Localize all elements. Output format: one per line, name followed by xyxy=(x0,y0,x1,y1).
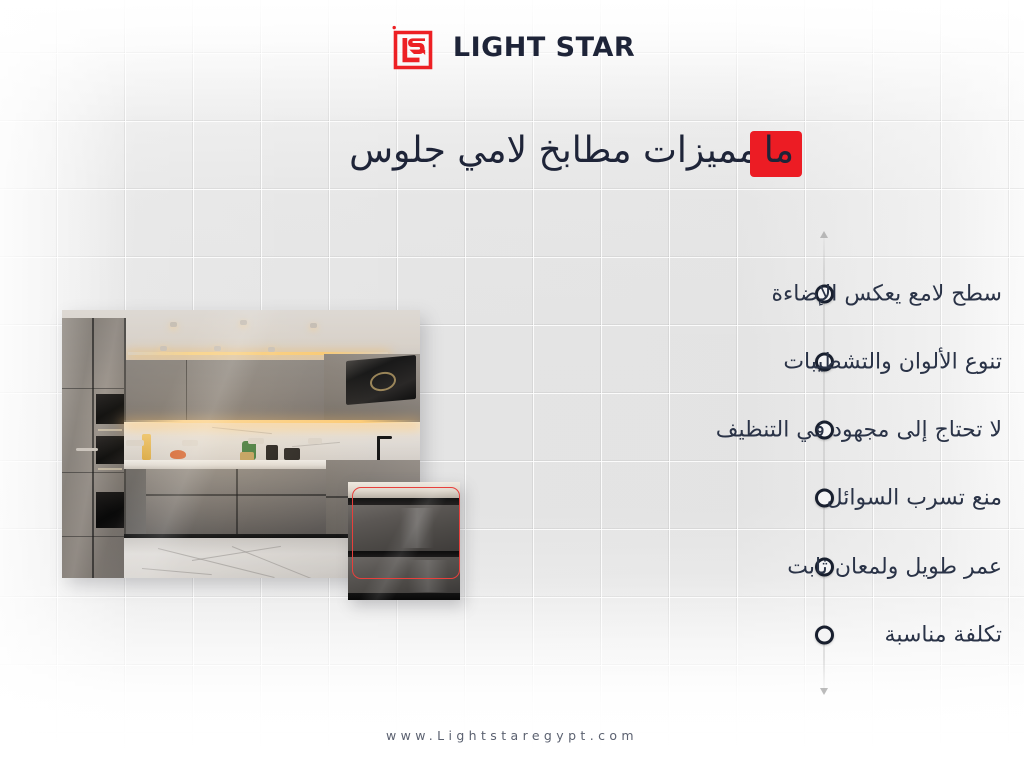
kitchen-cabinet-seam xyxy=(236,469,238,535)
ceiling-spot-icon xyxy=(160,346,167,351)
axis-arrow-down-icon xyxy=(820,688,828,695)
callout-sheen xyxy=(348,482,460,600)
list-item-label: عمر طويل ولمعان ثابت xyxy=(787,555,1002,580)
kitchen-socket-icon xyxy=(182,440,198,446)
brand-header: LIGHT STAR xyxy=(0,24,1024,71)
infographic-canvas: LIGHT STAR ما مميزات مطابخ لامي جلوس xyxy=(0,0,1024,768)
light-star-ls-monogram-icon xyxy=(389,24,436,71)
list-item-label: منع تسرب السوائل xyxy=(827,486,1002,511)
ring-bullet-icon xyxy=(815,626,834,645)
brand-name: LIGHT STAR xyxy=(453,32,635,63)
ceiling-spot-icon xyxy=(268,347,275,352)
ceiling-spot-icon xyxy=(214,346,221,351)
kitchen-appliance-prop xyxy=(284,448,300,460)
kitchen-tall-unit-seam xyxy=(62,536,124,537)
kitchen-kettle-prop xyxy=(266,445,278,460)
page-title-text: ما مميزات مطابخ لامي جلوس xyxy=(349,128,802,173)
kitchen-oven-highlight xyxy=(98,468,122,470)
kitchen-bottle-prop xyxy=(142,434,151,460)
page-title: ما مميزات مطابخ لامي جلوس xyxy=(349,128,802,173)
kitchen-tall-unit-seam xyxy=(62,472,124,473)
page-title-highlight: ما xyxy=(758,128,802,173)
page-title-highlight-word: ما xyxy=(764,130,794,171)
kitchen-built-in-oven-lower xyxy=(96,492,124,528)
kitchen-built-in-oven xyxy=(96,436,124,464)
kitchen-upper-cabinets-left xyxy=(122,360,187,422)
kitchen-under-cabinet-light xyxy=(124,420,420,423)
ceiling-spot-icon xyxy=(310,323,317,328)
page-title-rest: مميزات مطابخ لامي جلوس xyxy=(349,130,758,171)
list-item-label: تنوع الألوان والتشطيبات xyxy=(783,350,1002,375)
kitchen-socket-icon xyxy=(308,438,322,444)
kitchen-socket-icon xyxy=(248,438,264,444)
axis-arrow-up-icon xyxy=(820,231,828,238)
drawer-detail-callout xyxy=(348,482,460,600)
footer-website-url[interactable]: www.Lightstaregypt.com xyxy=(0,728,1024,743)
ceiling-spot-icon xyxy=(240,320,247,325)
kitchen-sink-faucet xyxy=(377,436,380,462)
ceiling-spot-icon xyxy=(170,322,177,327)
list-item-label: تكلفة مناسبة xyxy=(885,623,1002,648)
kitchen-oven-highlight xyxy=(98,429,122,431)
list-item-label: لا تحتاج إلى مجهود في التنظيف xyxy=(716,418,1002,443)
list-item-label: سطح لامع يعكس الإضاءة xyxy=(771,282,1002,307)
kitchen-shelf-prop xyxy=(76,448,98,451)
kitchen-socket-icon xyxy=(126,440,144,446)
kitchen-built-in-microwave xyxy=(96,394,124,424)
kitchen-fruit-bowl-prop xyxy=(170,450,186,459)
kitchen-tall-unit-seam xyxy=(62,388,124,389)
